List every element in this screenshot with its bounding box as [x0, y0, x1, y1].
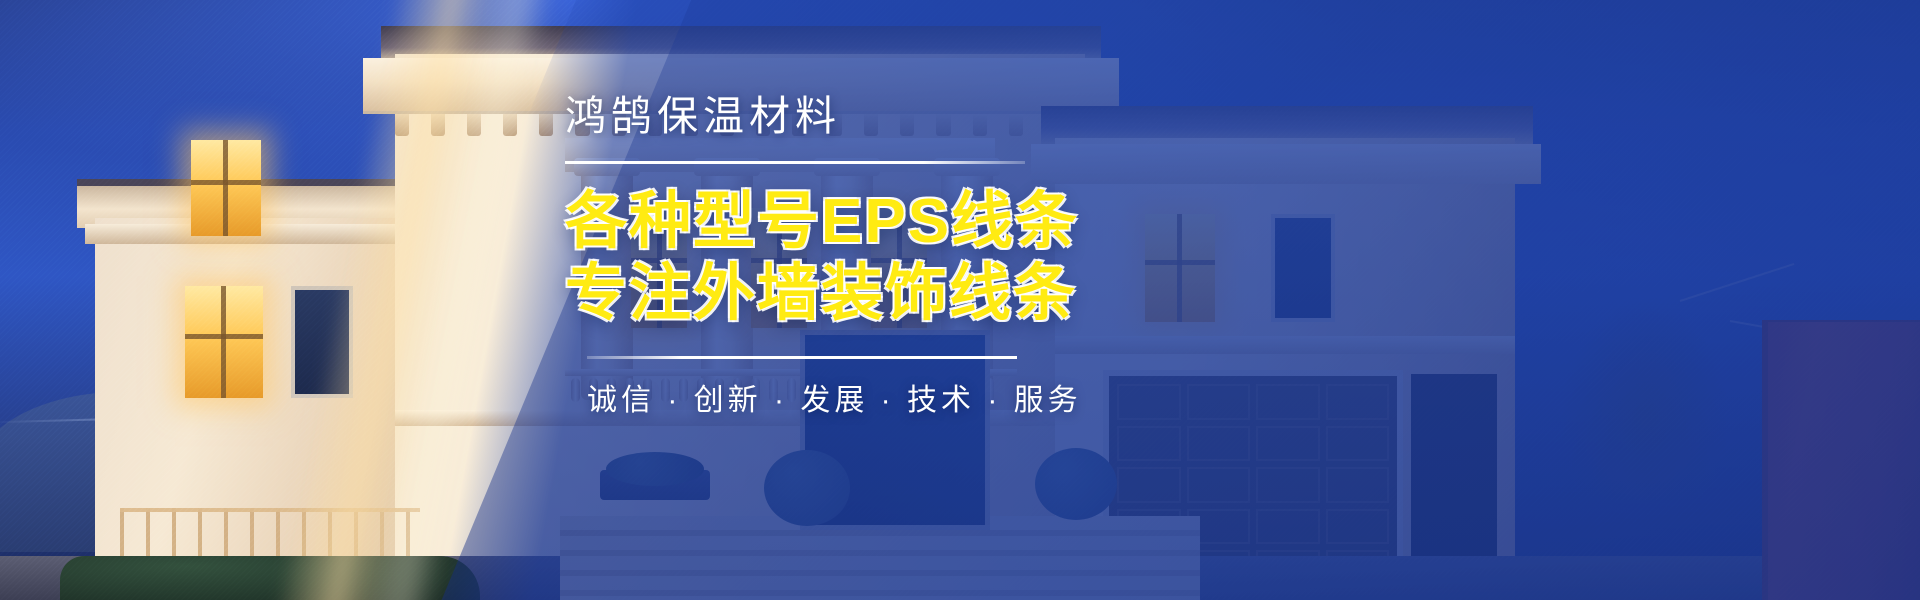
- tagline: 诚信 · 创新 · 发展 · 技术 · 服务: [587, 375, 1385, 419]
- text-block: 鸿鹄保温材料 各种型号EPS线条 专注外墙装饰线条 诚信 · 创新 · 发展 ·…: [565, 96, 1385, 419]
- banner-content: 鸿鹄保温材料 各种型号EPS线条 专注外墙装饰线条 诚信 · 创新 · 发展 ·…: [0, 0, 1920, 600]
- promotional-banner: 鸿鹄保温材料 各种型号EPS线条 专注外墙装饰线条 诚信 · 创新 · 发展 ·…: [0, 0, 1920, 600]
- headline-line-2: 专注外墙装饰线条: [565, 258, 1385, 330]
- headline: 各种型号EPS线条 专注外墙装饰线条: [565, 186, 1385, 330]
- headline-line-1: 各种型号EPS线条: [565, 186, 1385, 258]
- divider-bottom: [587, 356, 1017, 359]
- brand-name: 鸿鹄保温材料: [565, 96, 1385, 137]
- divider-top: [565, 161, 1025, 164]
